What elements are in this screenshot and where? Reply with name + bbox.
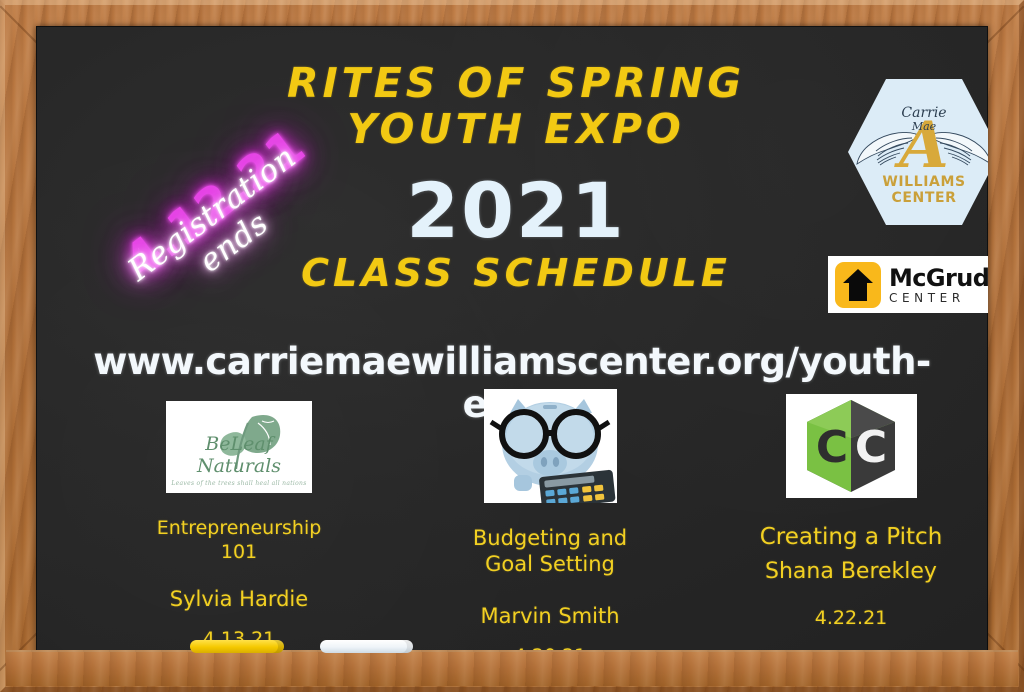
piggy-bank-calculator-photo (484, 389, 617, 503)
carrie-mae-center-name: WILLIAMS CENTER (848, 174, 988, 206)
event-year: 2021 (226, 166, 806, 255)
carrie-mae-williams-center-logo: A Carrie Mae WILLIAMS CENTER (848, 76, 988, 228)
mcgruder-badge (835, 262, 881, 308)
beleaf-tagline: Leaves of the trees shall heal all natio… (166, 480, 312, 487)
class-title-line-1: Entrepreneurship (119, 517, 359, 541)
svg-text:C: C (816, 422, 848, 473)
class-card-creating-a-pitch: C C Creating a Pitch Shana Berekley 4.22… (731, 394, 971, 630)
class-title: Entrepreneurship 101 (119, 517, 359, 565)
carrie-mae-script-top: Carrie (848, 106, 988, 120)
mcgruder-center-logo: McGruder CENTER (828, 256, 988, 313)
mcgruder-subname: CENTER (889, 292, 988, 304)
page-title-line-1: RITES OF SPRING (226, 62, 806, 105)
class-title: Budgeting and Goal Setting (430, 525, 670, 578)
page-subtitle: CLASS SCHEDULE (226, 254, 806, 294)
class-title-line-2: Goal Setting (430, 551, 670, 577)
beleaf-wordmark: BeLeaf Naturals (166, 433, 312, 477)
yellow-chalk[interactable] (190, 640, 284, 653)
house-icon (842, 268, 874, 302)
class-instructor: Marvin Smith (430, 604, 670, 629)
svg-text:C: C (855, 422, 887, 473)
mcgruder-name: McGruder (889, 266, 988, 290)
flyer-poster: 4.12.21 Registration ends RITES OF SPRIN… (0, 0, 1024, 692)
class-title-line-2: 101 (119, 541, 359, 565)
class-card-budgeting: Budgeting and Goal Setting Marvin Smith … (430, 389, 670, 655)
cc-cube-logo: C C (786, 394, 917, 498)
class-title: Creating a Pitch (731, 523, 971, 552)
class-card-entrepreneurship: BeLeaf Naturals Leaves of the trees shal… (119, 401, 359, 650)
carrie-mae-script-sub: Mae (848, 120, 988, 133)
chalkboard: 4.12.21 Registration ends RITES OF SPRIN… (36, 26, 988, 655)
white-chalk[interactable] (320, 640, 413, 653)
mcgruder-wordmark: McGruder CENTER (889, 266, 988, 304)
chalk-ledge (6, 650, 1018, 686)
class-instructor: Sylvia Hardie (119, 587, 359, 612)
class-title-line-1: Creating a Pitch (731, 523, 971, 552)
beleaf-naturals-logo: BeLeaf Naturals Leaves of the trees shal… (166, 401, 312, 493)
piggy-bank-icon (484, 389, 617, 503)
page-title-line-2: YOUTH EXPO (226, 108, 806, 151)
class-title-line-1: Budgeting and (430, 525, 670, 551)
class-instructor: Shana Berekley (731, 559, 971, 585)
class-date: 4.22.21 (731, 607, 971, 630)
cc-cube-icon: C C (799, 394, 903, 498)
